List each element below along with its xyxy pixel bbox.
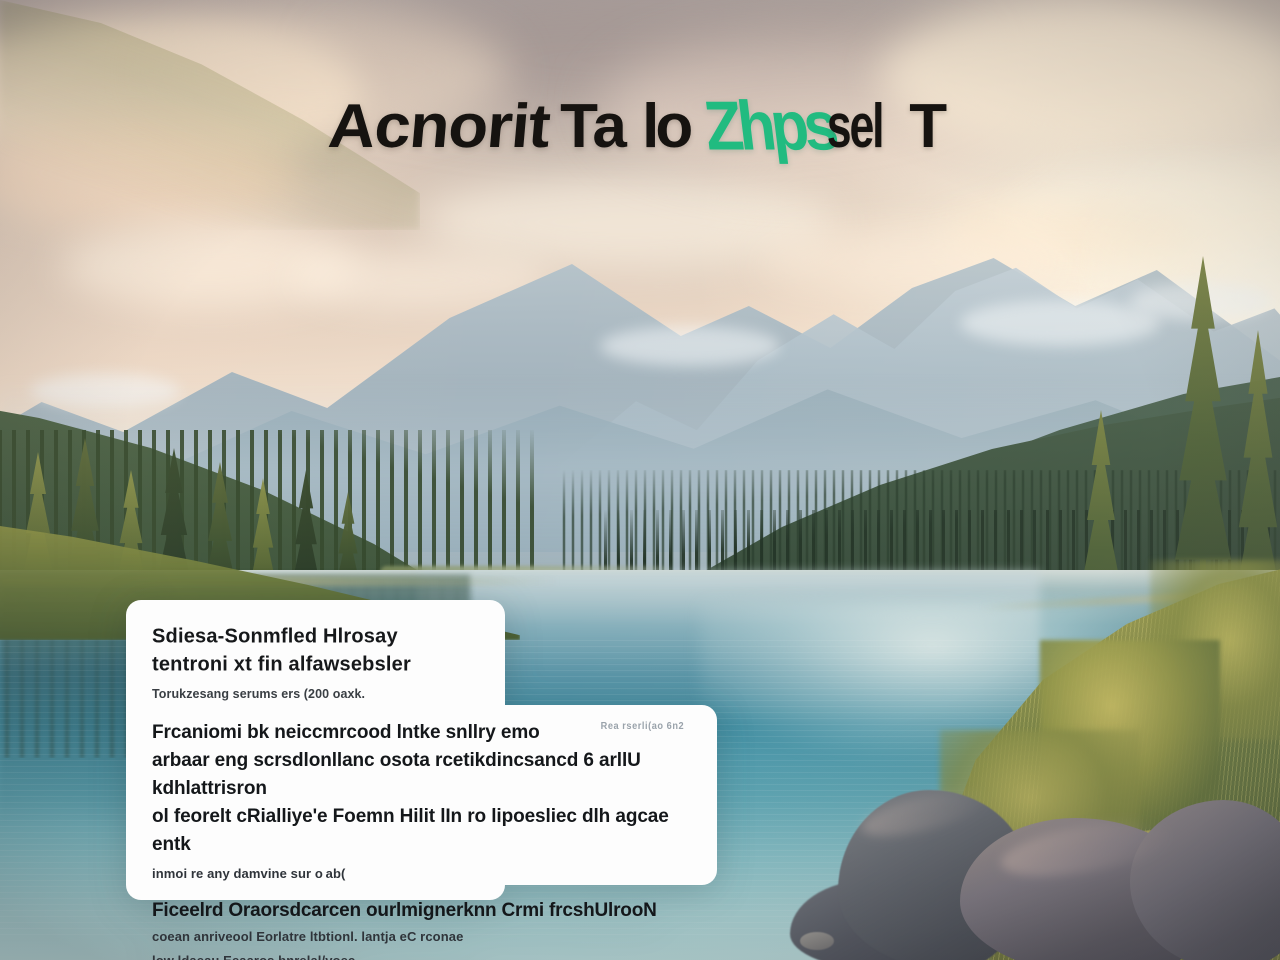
headline-segment-1: Acnorit	[326, 96, 552, 158]
pebble	[800, 932, 834, 950]
card-section-heading-line3: ol feorelt cRialliye'e Foemn Hilit lIn r…	[152, 803, 700, 859]
card-title-line1: Sdiesa-Sonmfled Hlrosay	[152, 622, 482, 651]
headline-segment-3: lo	[642, 96, 689, 158]
headline-segment-5: sel	[827, 96, 883, 158]
card-subtitle: Torukzesang serums ers (200 oaxk.	[152, 686, 678, 701]
headline-segment-6: T	[909, 96, 946, 158]
headline-segment-4: Zhps	[701, 92, 838, 161]
snowcap-2	[960, 300, 1160, 346]
card-footer-line1: coean anriveool Eorlatre ltbtionl. lantj…	[152, 927, 700, 947]
headline-overlay: Acnorit Ta lo Zhps sel T	[0, 96, 1280, 158]
card-section-heading-line2: arbaar eng scrsdlonllanc osota rcetikdin…	[152, 747, 700, 803]
info-card: Sdiesa-Sonmfled Hlrosay tentroni xt fin …	[126, 600, 726, 905]
card-footer-line2: low ldaeau Eeaaros bnrelal/voec	[152, 951, 700, 960]
card-section-heading-line1: Frcaniomi bk neiccmrcood lntke snllry em…	[152, 719, 700, 747]
card-section-small-line: inmoi re any damvine sur o ab(	[152, 864, 700, 884]
card-footer-heading: Ficeelrd Oraorsdcarcen ourlmignerknn Crm…	[152, 900, 700, 922]
card-content: Sdiesa-Sonmfled Hlrosay tentroni xt fin …	[126, 600, 726, 905]
headline-segment-2: Ta	[560, 96, 626, 158]
card-section: Rea rserli(ao 6n2 Frcaniomi bk neiccmrco…	[152, 719, 700, 884]
card-title-line2: tentroni xt fin alfawsebsler	[152, 650, 482, 679]
snowcap-1	[600, 326, 780, 366]
